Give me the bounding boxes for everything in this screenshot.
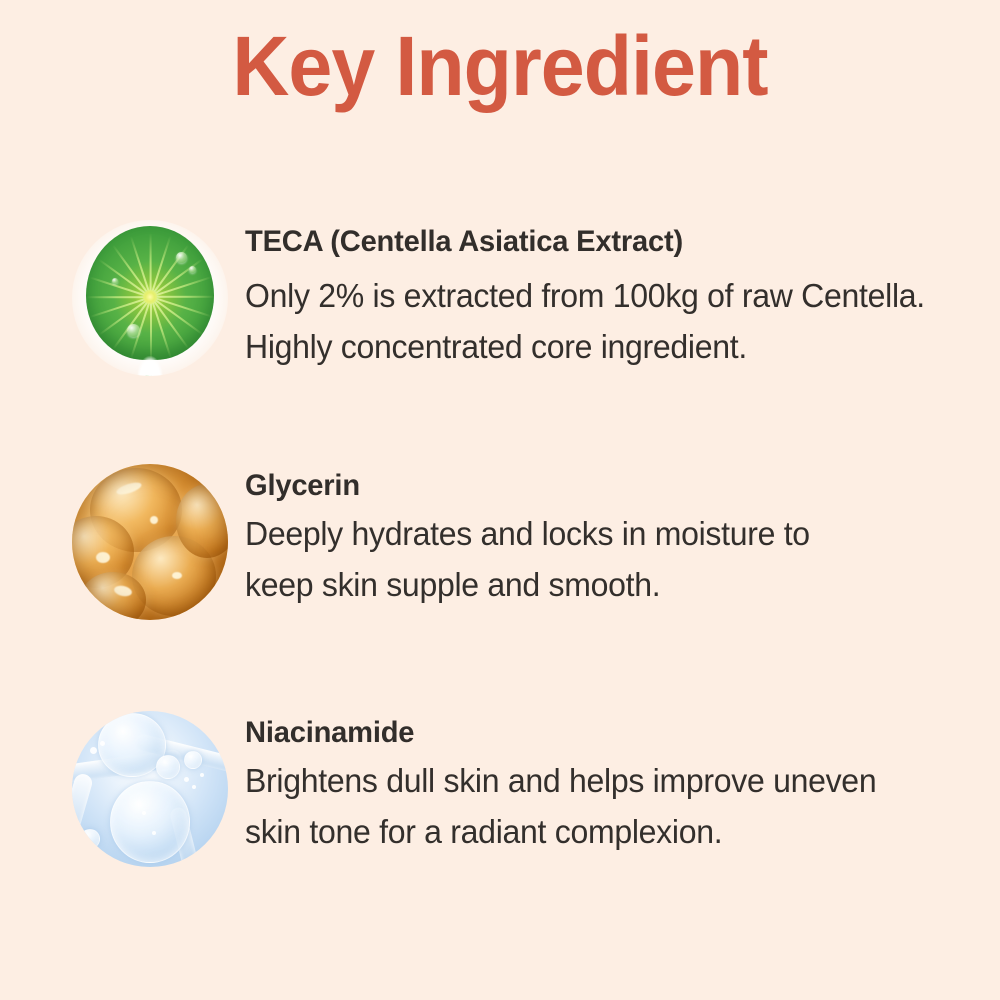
bubble-sparkle <box>90 747 97 754</box>
gel-edge-shading <box>72 464 228 620</box>
ingredient-description-line: Only 2% is extracted from 100kg of raw C… <box>245 270 977 321</box>
bubble-sparkle <box>200 773 204 777</box>
bubble-shape <box>156 755 180 779</box>
page-title: Key Ingredient <box>30 18 970 114</box>
ingredient-description-line: keep skin supple and smooth. <box>245 559 977 610</box>
bubble-shape <box>110 781 190 863</box>
ingredient-name: Niacinamide <box>245 711 977 755</box>
ingredient-row: Glycerin Deeply hydrates and locks in mo… <box>0 462 1000 622</box>
bubble-sparkle <box>152 831 156 835</box>
water-droplet-icon <box>127 324 140 337</box>
ingredient-description-line: Deeply hydrates and locks in moisture to <box>245 508 977 559</box>
bubble-sparkle <box>184 777 189 782</box>
leaf-notch-shape <box>137 356 163 376</box>
ingredient-row: TECA (Centella Asiatica Extract) Only 2%… <box>0 218 1000 378</box>
water-droplet-icon <box>176 252 187 263</box>
bubble-shape <box>80 829 100 849</box>
bubble-shape <box>184 751 202 769</box>
centella-leaf-image <box>72 220 228 376</box>
bubble-sparkle <box>192 785 196 789</box>
glycerin-gel-image <box>72 464 228 620</box>
leaf-body-shape <box>86 226 214 360</box>
ingredient-description-line: Brightens dull skin and helps improve un… <box>245 755 977 806</box>
niacinamide-bubbles-image-wrap <box>70 709 230 869</box>
glycerin-gel-image-wrap <box>70 462 230 622</box>
bubble-sparkle <box>142 811 146 815</box>
ingredient-text-block: TECA (Centella Asiatica Extract) Only 2%… <box>245 218 1000 372</box>
niacinamide-bubbles-image <box>72 711 228 867</box>
ingredient-row: Niacinamide Brightens dull skin and help… <box>0 709 1000 869</box>
ingredient-description-line: skin tone for a radiant complexion. <box>245 806 977 857</box>
bubble-sparkle <box>100 741 105 746</box>
ingredient-name: TECA (Centella Asiatica Extract) <box>245 220 977 264</box>
ingredient-name: Glycerin <box>245 464 977 508</box>
centella-leaf-image-wrap <box>70 218 230 378</box>
ingredient-text-block: Glycerin Deeply hydrates and locks in mo… <box>245 462 1000 610</box>
ingredient-text-block: Niacinamide Brightens dull skin and help… <box>245 709 1000 857</box>
water-droplet-icon <box>189 266 196 273</box>
ingredient-description-line: Highly concentrated core ingredient. <box>245 321 977 372</box>
water-droplet-icon <box>112 278 118 284</box>
leaf-center-icon <box>143 290 157 304</box>
key-ingredient-page: Key Ingredient <box>0 0 1000 1000</box>
